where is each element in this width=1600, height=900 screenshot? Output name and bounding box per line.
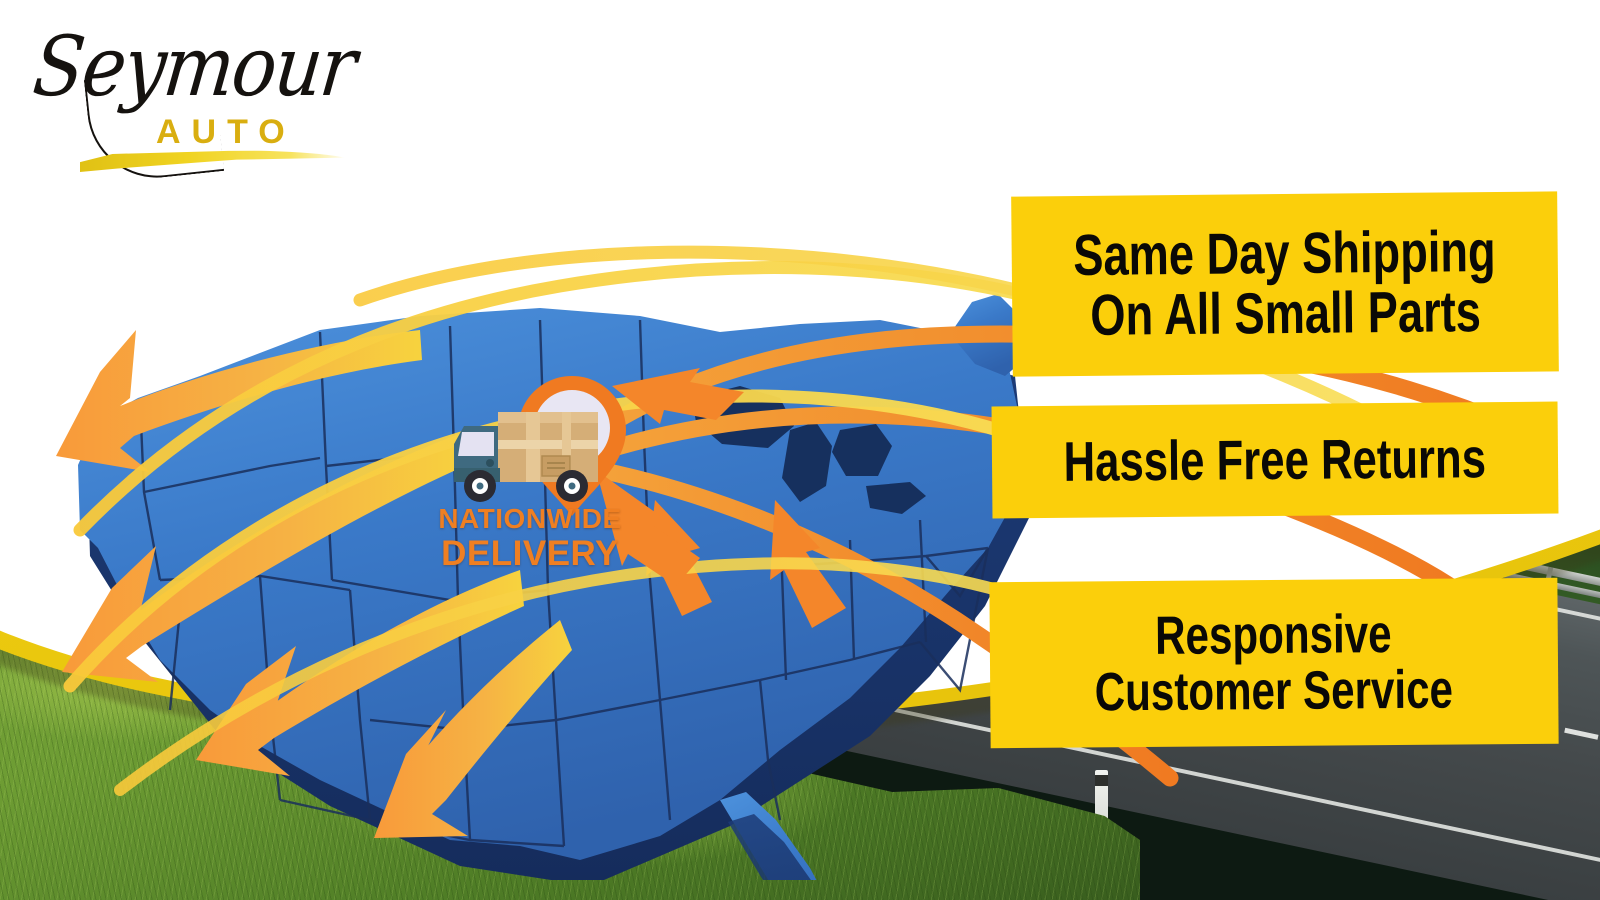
brand-name: Seymour — [29, 19, 359, 115]
nationwide-delivery-label: NATIONWIDE DELIVERY — [420, 505, 640, 571]
callout-line: Same Day Shipping — [1073, 222, 1496, 286]
callout-line: Responsive — [1155, 606, 1392, 664]
delivery-truck-icon — [454, 412, 598, 502]
map-florida-extrusion — [728, 814, 864, 880]
nationwide-label-line2: DELIVERY — [420, 536, 640, 571]
callout-same-day-shipping[interactable]: Same Day Shipping On All Small Parts — [1011, 191, 1559, 376]
brand-subtitle: AUTO — [156, 113, 296, 152]
callout-hassle-free-returns[interactable]: Hassle Free Returns — [992, 402, 1559, 519]
callout-responsive-customer-service[interactable]: Responsive Customer Service — [989, 578, 1558, 748]
brand-logo[interactable]: Seymour AUTO — [34, 18, 344, 168]
promotional-banner: Seymour AUTO — [0, 0, 1600, 900]
nationwide-label-line1: NATIONWIDE — [420, 505, 640, 533]
callout-line: Hassle Free Returns — [1064, 429, 1487, 491]
callout-line: Customer Service — [1095, 662, 1454, 721]
callout-line: On All Small Parts — [1090, 282, 1481, 346]
